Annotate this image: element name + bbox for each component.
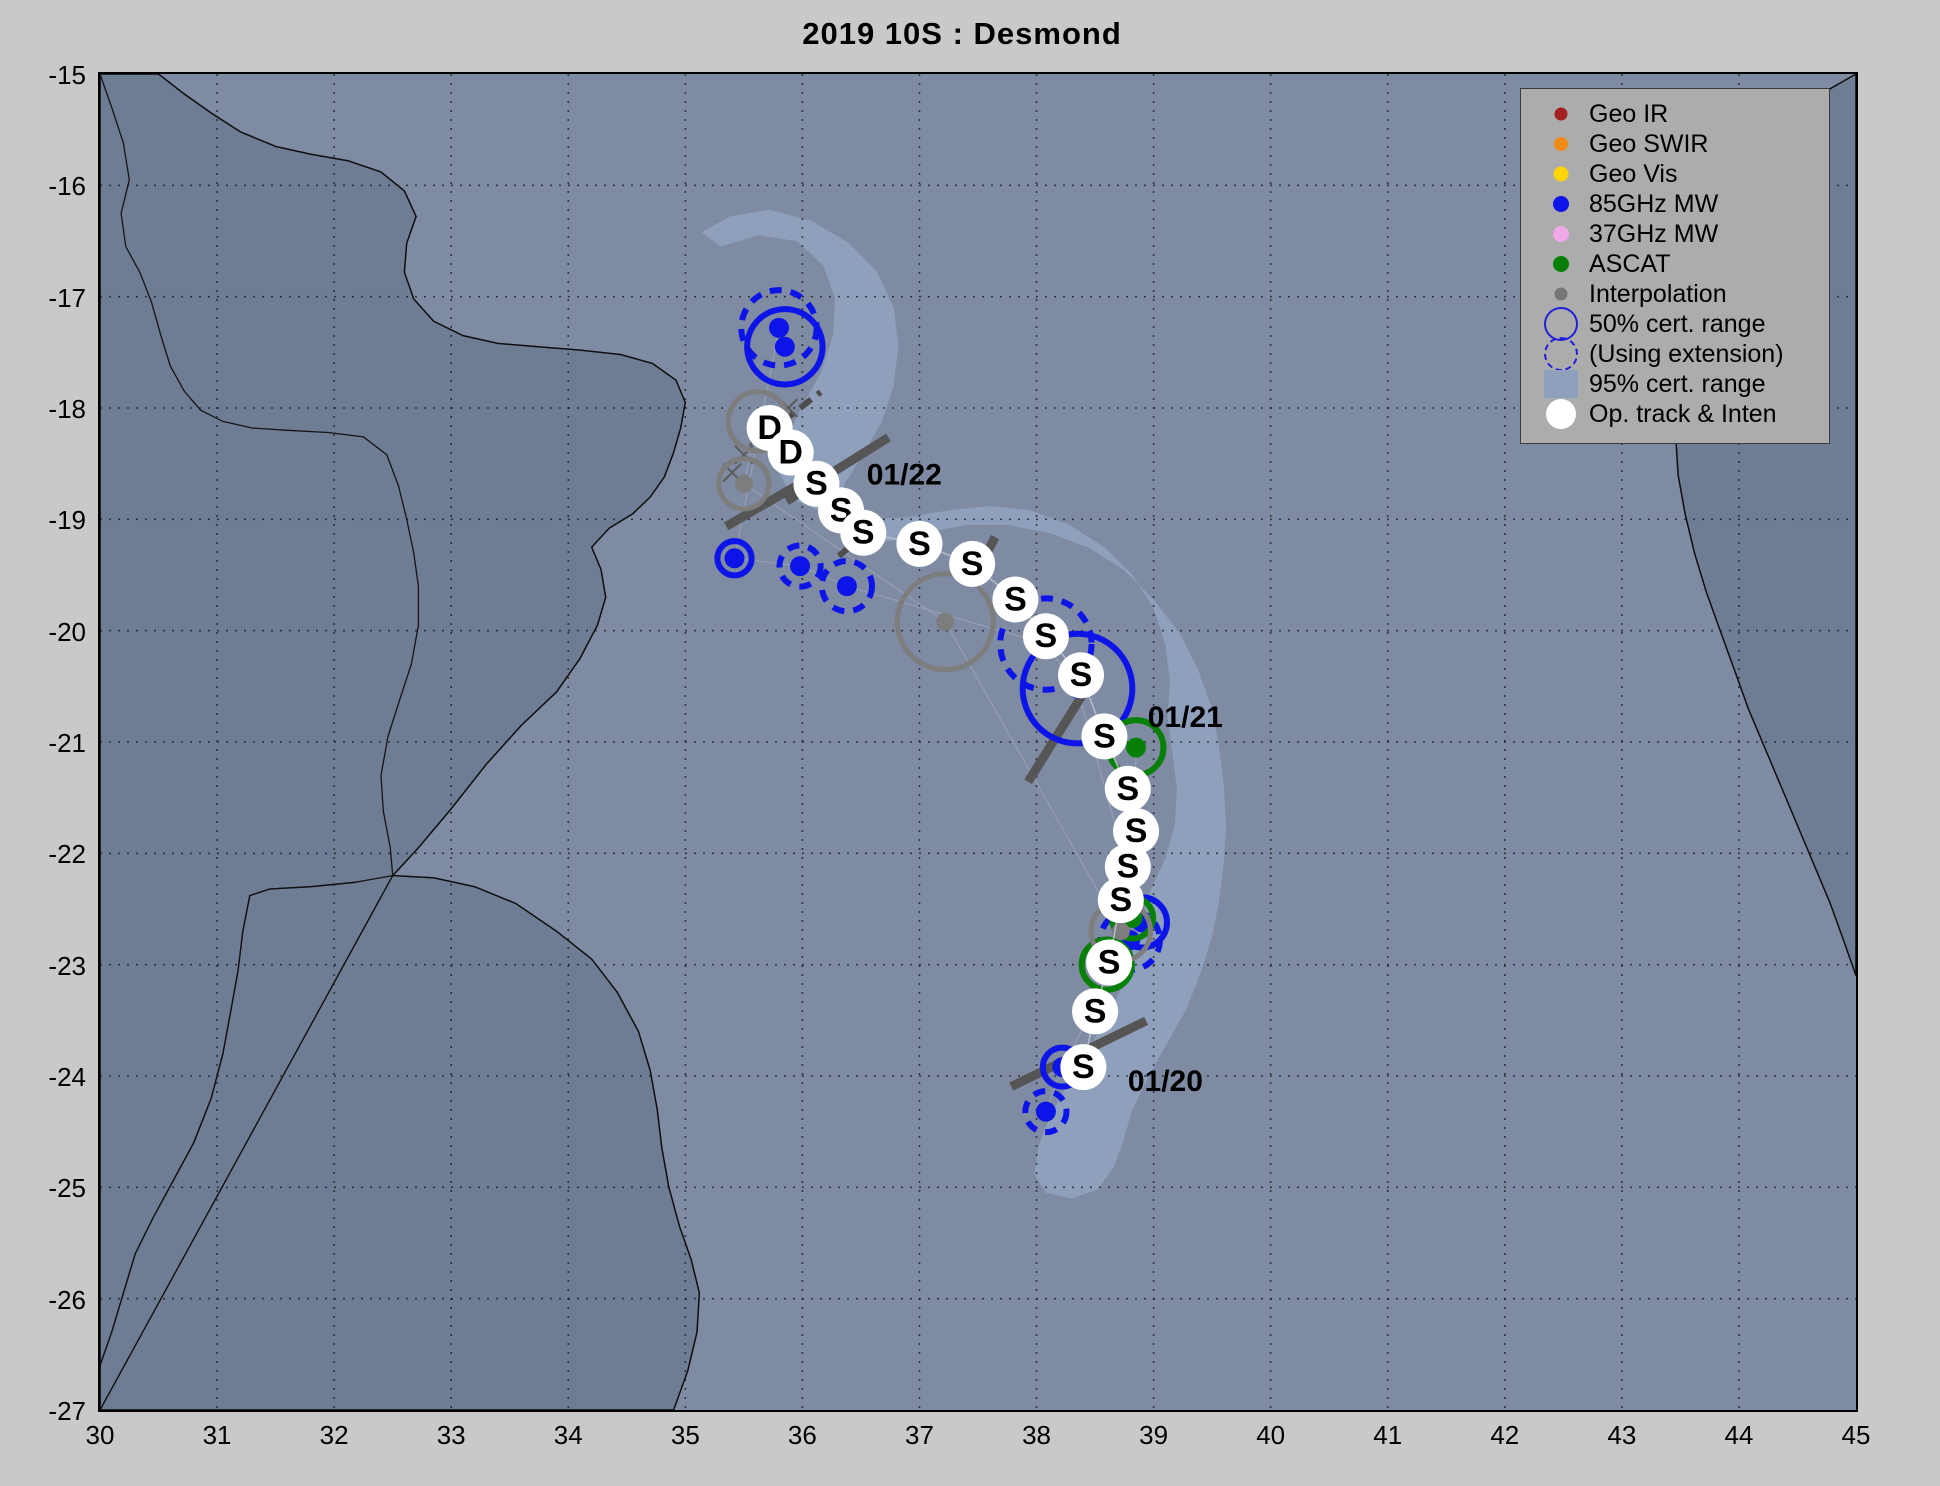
x-tick-label: 41 [1348, 1420, 1428, 1451]
op-track-marker[interactable]: S [1086, 939, 1132, 985]
y-tick-label: -21 [16, 728, 86, 759]
x-tick-label: 33 [411, 1420, 491, 1451]
x-tick-label: 35 [645, 1420, 725, 1451]
date-annotation: 01/21 [1148, 701, 1223, 734]
y-tick-label: -15 [16, 60, 86, 91]
legend: Geo IRGeo SWIRGeo Vis85GHz MW37GHz MWASC… [1520, 88, 1830, 444]
fix-point-85ghz-mw [837, 576, 857, 596]
x-tick-label: 38 [997, 1420, 1077, 1451]
y-tick-label: -23 [16, 951, 86, 982]
legend-symbol-dot-icon [1533, 129, 1589, 159]
op-track-marker[interactable]: S [1060, 1044, 1106, 1090]
fix-point-85ghz-mw [725, 548, 745, 568]
op-track-intensity-label: S [852, 514, 875, 552]
x-tick-label: 45 [1816, 1420, 1896, 1451]
legend-item-label: Geo SWIR [1589, 132, 1708, 157]
op-track-intensity-label: S [1072, 1048, 1095, 1086]
legend-item-label: (Using extension) [1589, 342, 1784, 367]
x-tick-label: 31 [177, 1420, 257, 1451]
cyclone-track-figure: 2019 10S : Desmond DDSSSSSSSSSSSSSSSS01/… [0, 0, 1940, 1486]
legend-item[interactable]: (Using extension) [1521, 339, 1829, 369]
op-track-intensity-label: D [778, 434, 803, 472]
op-track-marker[interactable]: S [840, 510, 886, 556]
fix-point-interpolation [735, 475, 753, 493]
legend-item-label: 85GHz MW [1589, 192, 1718, 217]
op-track-intensity-label: S [1084, 992, 1107, 1030]
op-track-intensity-label: S [1117, 770, 1140, 808]
op-track-intensity-label: S [1004, 580, 1027, 618]
op-track-intensity-label: S [961, 545, 984, 583]
op-track-marker[interactable]: S [1058, 652, 1104, 698]
legend-symbol-ring-solid-icon [1533, 309, 1589, 339]
op-track-intensity-label: S [908, 525, 931, 563]
legend-item[interactable]: Geo SWIR [1521, 129, 1829, 159]
x-tick-label: 34 [528, 1420, 608, 1451]
legend-item[interactable]: Interpolation [1521, 279, 1829, 309]
x-tick-label: 44 [1699, 1420, 1779, 1451]
legend-item-label: Op. track & Inten [1589, 402, 1777, 427]
fix-point-85ghz-mw [769, 318, 789, 338]
y-tick-label: -25 [16, 1173, 86, 1204]
legend-item[interactable]: Op. track & Inten [1521, 399, 1829, 429]
op-track-marker[interactable]: S [949, 541, 995, 587]
op-track-intensity-label: S [1070, 656, 1093, 694]
legend-symbol-dot-icon [1533, 279, 1589, 309]
x-tick-label: 39 [1114, 1420, 1194, 1451]
op-track-intensity-label: S [1093, 717, 1116, 755]
date-annotation: 01/20 [1128, 1065, 1203, 1098]
legend-item[interactable]: Geo IR [1521, 99, 1829, 129]
legend-item[interactable]: 85GHz MW [1521, 189, 1829, 219]
legend-item-label: 95% cert. range [1589, 372, 1766, 397]
x-tick-label: 40 [1231, 1420, 1311, 1451]
op-track-intensity-label: S [1109, 881, 1132, 919]
legend-symbol-square-icon [1533, 369, 1589, 399]
y-tick-label: -26 [16, 1285, 86, 1316]
legend-symbol-dot-icon [1533, 219, 1589, 249]
op-track-intensity-label: S [1098, 943, 1121, 981]
page-title-text: 2019 10S : Desmond [802, 16, 1122, 52]
op-track-marker[interactable]: S [896, 521, 942, 567]
legend-item-label: 50% cert. range [1589, 312, 1766, 337]
op-track-marker[interactable]: S [992, 576, 1038, 622]
legend-symbol-dot-icon [1533, 99, 1589, 129]
x-tick-label: 36 [762, 1420, 842, 1451]
op-track-intensity-label: S [1035, 617, 1058, 655]
y-tick-label: -18 [16, 394, 86, 425]
legend-item[interactable]: 95% cert. range [1521, 369, 1829, 399]
x-tick-label: 43 [1582, 1420, 1662, 1451]
op-track-marker[interactable]: S [1105, 766, 1151, 812]
x-tick-label: 32 [294, 1420, 374, 1451]
y-tick-label: -16 [16, 171, 86, 202]
y-tick-label: -22 [16, 839, 86, 870]
legend-item-label: Interpolation [1589, 282, 1727, 307]
legend-item-label: ASCAT [1589, 252, 1671, 277]
op-track-marker[interactable]: S [1081, 713, 1127, 759]
legend-item[interactable]: 50% cert. range [1521, 309, 1829, 339]
legend-symbol-ring-dashed-icon [1533, 339, 1589, 369]
legend-item-label: Geo IR [1589, 102, 1668, 127]
page-title: 2019 10S : Desmond [0, 16, 1940, 52]
fix-point-85ghz-mw [1036, 1102, 1056, 1122]
y-tick-label: -20 [16, 617, 86, 648]
legend-item[interactable]: ASCAT [1521, 249, 1829, 279]
op-track-marker[interactable]: S [1098, 877, 1144, 923]
y-tick-label: -24 [16, 1062, 86, 1093]
legend-item-label: 37GHz MW [1589, 222, 1718, 247]
date-annotation: 01/22 [867, 458, 942, 491]
legend-symbol-dot-icon [1533, 189, 1589, 219]
legend-item[interactable]: 37GHz MW [1521, 219, 1829, 249]
y-tick-label: -19 [16, 505, 86, 536]
fix-point-ascat [1126, 738, 1146, 758]
legend-item[interactable]: Geo Vis [1521, 159, 1829, 189]
op-track-marker[interactable]: S [1023, 613, 1069, 659]
y-tick-label: -17 [16, 283, 86, 314]
fix-point-85ghz-mw [775, 337, 795, 357]
legend-item-label: Geo Vis [1589, 162, 1677, 187]
fix-point-interpolation [936, 613, 954, 631]
x-tick-label: 42 [1465, 1420, 1545, 1451]
fix-point-85ghz-mw [790, 556, 810, 576]
legend-symbol-dot-icon [1533, 399, 1589, 429]
legend-symbol-dot-icon [1533, 159, 1589, 189]
legend-symbol-dot-icon [1533, 249, 1589, 279]
x-tick-label: 30 [60, 1420, 140, 1451]
op-track-marker[interactable]: S [1072, 988, 1118, 1034]
x-tick-label: 37 [879, 1420, 959, 1451]
